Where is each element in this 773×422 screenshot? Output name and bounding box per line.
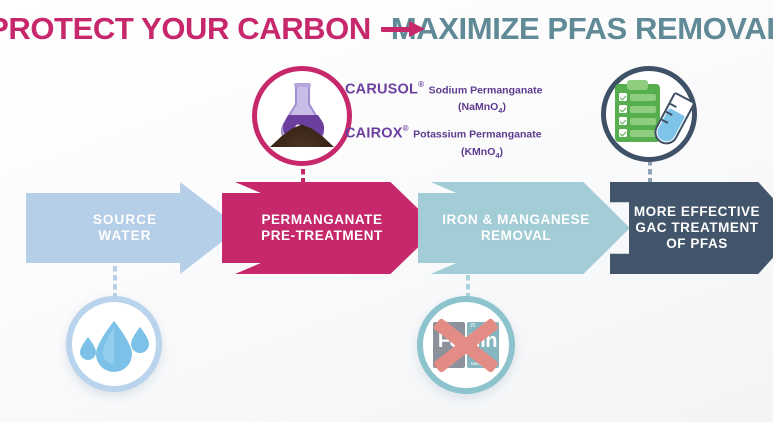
process-step-permanganate-pretreatment[interactable]: PERMANGANATE PRE-TREATMENT: [222, 182, 438, 274]
step-4-line-1: MORE EFFECTIVE: [634, 204, 760, 220]
product-cairox: CAIROX® Potassium Permanganate: [345, 124, 575, 142]
infographic-canvas: PROTECT YOUR CARBON MAXIMIZE PFAS REMOVA…: [0, 0, 773, 422]
clipboard-clamp: [627, 80, 648, 90]
element-tiles: 26 Fe Iron 25 Mn Manganese: [433, 322, 499, 368]
water-droplets-icon[interactable]: [66, 296, 162, 392]
flask-carbon-icon[interactable]: [252, 66, 352, 166]
droplets-graphic: [77, 313, 151, 375]
product-carusol: CARUSOL® Sodium Permanganate: [345, 80, 575, 98]
step-1-line-1: SOURCE: [93, 212, 157, 228]
carusol-brand: CARUSOL: [345, 81, 418, 97]
step-3-line-1: IRON & MANGANESE: [442, 212, 590, 228]
step-2-line-2: PRE-TREATMENT: [261, 228, 383, 244]
carusol-name: Sodium Permanganate: [429, 84, 543, 96]
step-2-line-1: PERMANGANATE: [261, 212, 383, 228]
flask-graphic: [265, 79, 339, 153]
headline-part-1: PROTECT YOUR CARBON: [0, 11, 371, 47]
red-x-icon: [427, 310, 505, 380]
process-step-iron-manganese-removal[interactable]: IRON & MANGANESE REMOVAL: [418, 182, 630, 274]
process-flow: SOURCE WATER PERMANGANATE PRE-TREATMENT …: [26, 182, 750, 274]
step-1-line-2: WATER: [93, 228, 157, 244]
step-3-line-2: REMOVAL: [442, 228, 590, 244]
process-step-gac-treatment[interactable]: MORE EFFECTIVE GAC TREATMENT OF PFAS: [610, 182, 773, 274]
cairox-brand: CAIROX: [345, 126, 403, 142]
clipboard-graphic: [613, 78, 685, 150]
cairox-formula: (KMnO4): [389, 146, 575, 160]
clipboard-testtube-icon[interactable]: [601, 66, 697, 162]
headline: PROTECT YOUR CARBON MAXIMIZE PFAS REMOVA…: [0, 11, 773, 47]
cairox-name: Potassium Permanganate: [413, 129, 541, 141]
process-step-source-water[interactable]: SOURCE WATER: [26, 182, 240, 274]
product-labels: CARUSOL® Sodium Permanganate (NaMnO4) CA…: [345, 80, 575, 160]
iron-manganese-crossed-icon[interactable]: 26 Fe Iron 25 Mn Manganese: [417, 296, 515, 394]
cairox-registered: ®: [403, 124, 409, 133]
step-4-line-3: OF PFAS: [634, 236, 760, 252]
carusol-registered: ®: [418, 80, 424, 89]
headline-part-2: MAXIMIZE PFAS REMOVAL: [391, 11, 773, 47]
step-4-line-2: GAC TREATMENT: [634, 220, 760, 236]
carusol-formula: (NaMnO4): [389, 101, 575, 115]
